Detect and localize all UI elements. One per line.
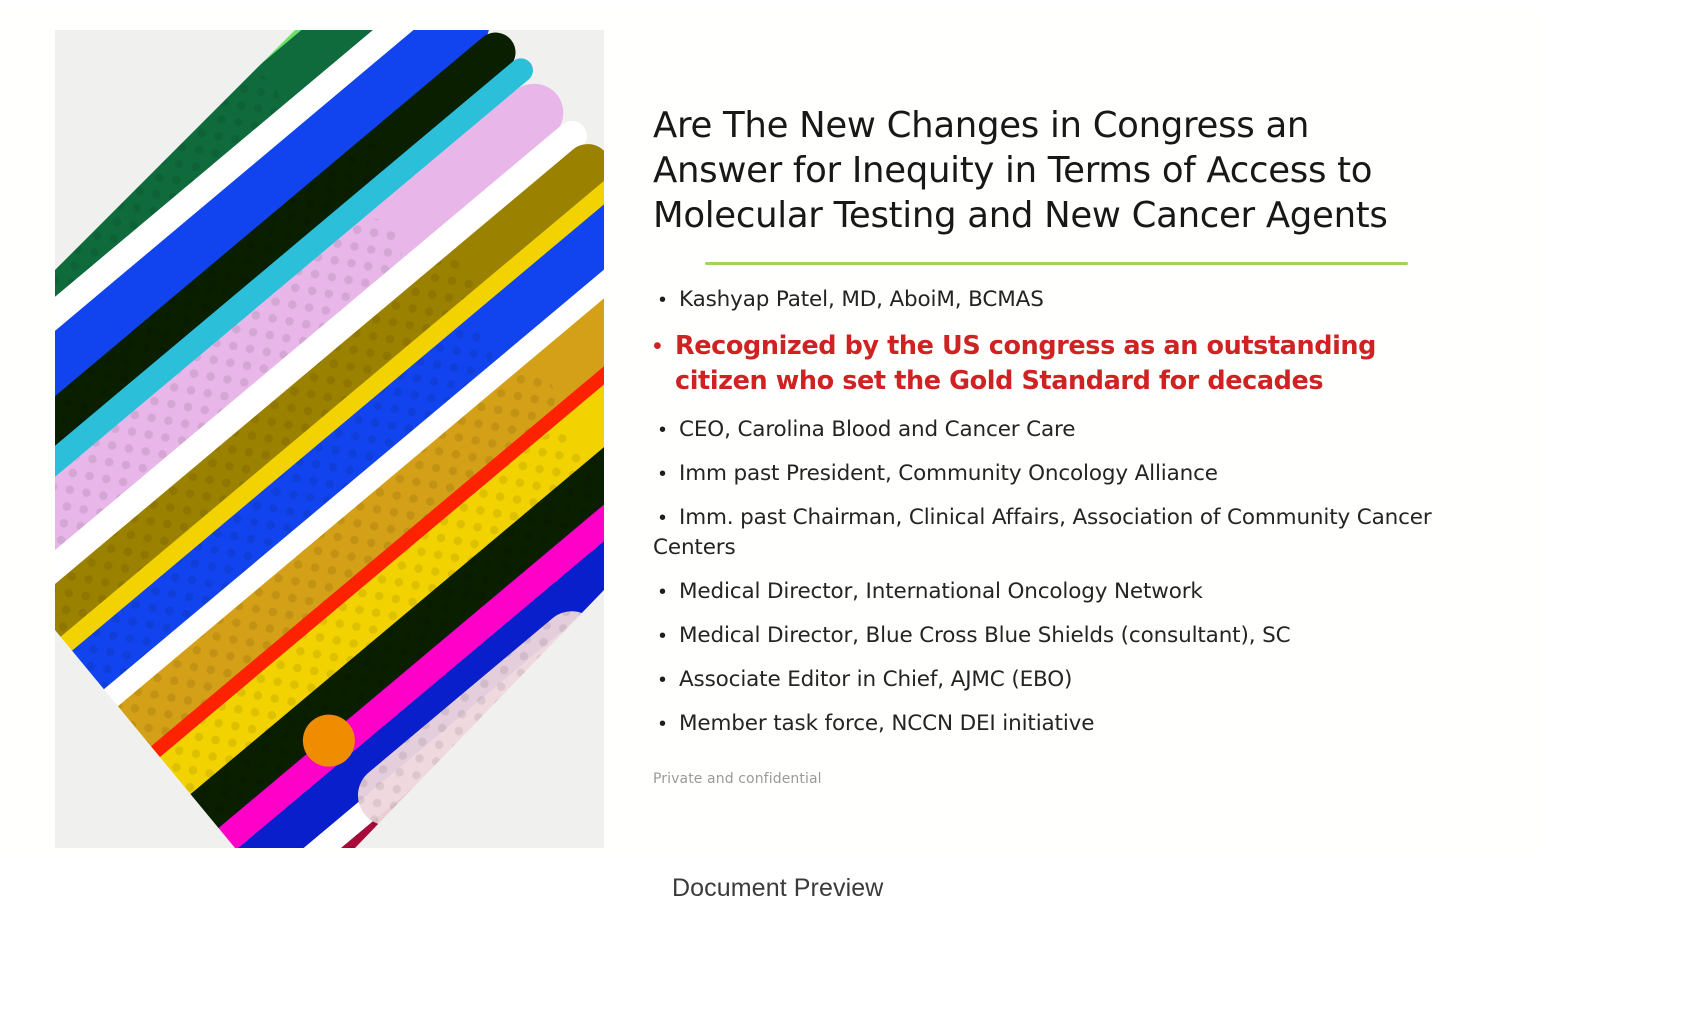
list-item-label: Medical Director, International Oncology… [679, 577, 1443, 607]
credentials-bullet-list: • Kashyap Patel, MD, AboiM, BCMAS • Reco… [653, 285, 1443, 739]
list-item-label: Medical Director, Blue Cross Blue Shield… [679, 621, 1443, 651]
confidentiality-note: Private and confidential [653, 771, 1443, 787]
list-item: • CEO, Carolina Blood and Cancer Care [653, 415, 1443, 445]
list-item-highlighted: • Recognized by the US congress as an ou… [653, 329, 1443, 399]
bullet-icon: • [653, 459, 679, 489]
list-item: • Imm. past Chairman, Clinical Affairs, … [653, 503, 1443, 563]
list-item: • Kashyap Patel, MD, AboiM, BCMAS [653, 285, 1443, 315]
bullet-icon: • [653, 285, 679, 315]
artwork-svg [55, 30, 604, 848]
list-item-label: Associate Editor in Chief, AJMC (EBO) [679, 665, 1443, 695]
list-item-label: Imm. past Chairman, Clinical Affairs, As… [653, 503, 1443, 563]
list-item-label: CEO, Carolina Blood and Cancer Care [679, 415, 1443, 445]
list-item-label: Imm past President, Community Oncology A… [679, 459, 1443, 489]
diagonal-color-bars-artwork [55, 30, 604, 848]
list-item: • Medical Director, Blue Cross Blue Shie… [653, 621, 1443, 651]
document-preview-slide[interactable]: Are The New Changes in Congress an Answe… [0, 8, 1545, 853]
bullet-icon: • [653, 415, 679, 445]
document-preview-caption: Document Preview [672, 874, 883, 903]
bullet-icon: • [653, 621, 679, 651]
slide-content-column: Are The New Changes in Congress an Answe… [653, 103, 1443, 787]
slide-title: Are The New Changes in Congress an Answe… [653, 103, 1413, 238]
list-item: • Imm past President, Community Oncology… [653, 459, 1443, 489]
list-item: • Medical Director, International Oncolo… [653, 577, 1443, 607]
list-item: • Member task force, NCCN DEI initiative [653, 709, 1443, 739]
bullet-icon: • [653, 709, 679, 739]
bullet-icon: • [653, 577, 679, 607]
bullet-icon: • [653, 665, 679, 695]
title-divider [705, 262, 1408, 265]
list-item-label: Recognized by the US congress as an outs… [675, 329, 1443, 399]
bullet-icon: • [653, 329, 675, 364]
list-item-label: Member task force, NCCN DEI initiative [679, 709, 1443, 739]
list-item: • Associate Editor in Chief, AJMC (EBO) [653, 665, 1443, 695]
list-item-label: Kashyap Patel, MD, AboiM, BCMAS [679, 285, 1443, 315]
